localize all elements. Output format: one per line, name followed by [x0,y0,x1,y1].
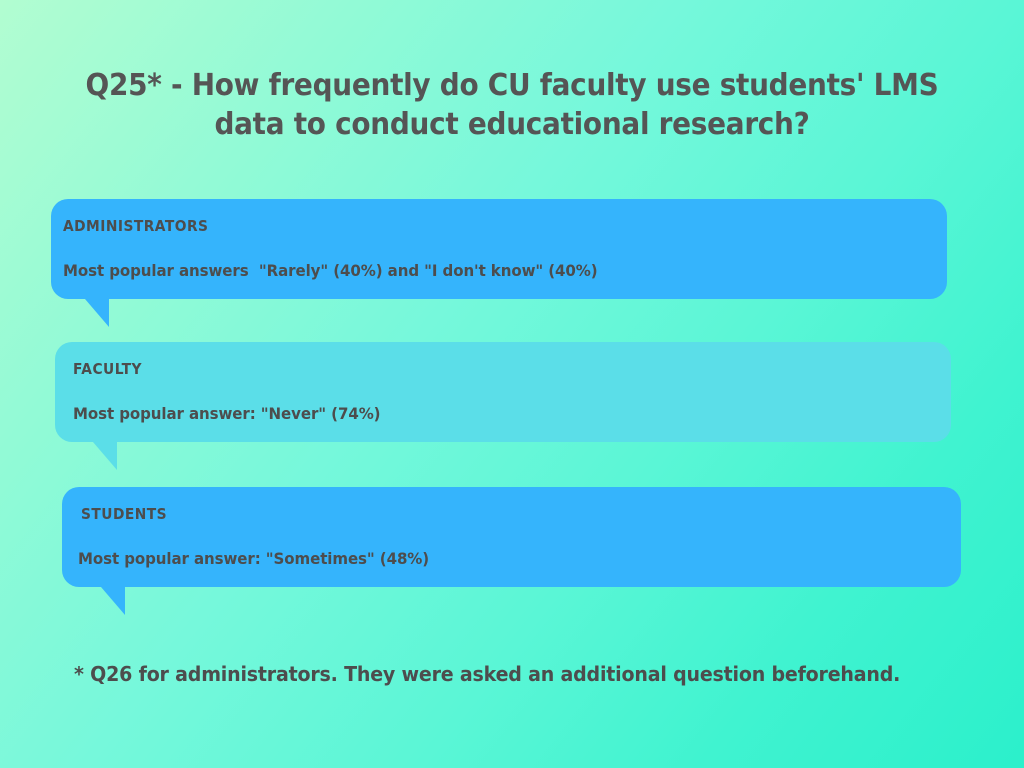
bubble-answer-faculty: Most popular answer: "Never" (74%) [73,404,898,423]
bubble-body-students: STUDENTS Most popular answer: "Sometimes… [62,487,961,587]
bubble-body-faculty: FACULTY Most popular answer: "Never" (74… [55,342,951,442]
speech-bubble-students: STUDENTS Most popular answer: "Sometimes… [62,487,961,587]
slide-canvas: Q25* - How frequently do CU faculty use … [0,0,1024,768]
bubble-answer-administrators: Most popular answers "Rarely" (40%) and … [63,261,894,280]
speech-bubble-administrators: ADMINISTRATORS Most popular answers "Rar… [51,199,947,299]
bubble-tail-administrators [85,299,109,327]
bubble-group-label-students: STUDENTS [81,505,891,523]
bubble-answer-students: Most popular answer: "Sometimes" (48%) [78,549,908,568]
bubble-tail-students [101,587,125,615]
bubble-tail-faculty [93,442,117,470]
bubble-group-label-administrators: ADMINISTRATORS [63,217,876,235]
speech-bubble-faculty: FACULTY Most popular answer: "Never" (74… [55,342,951,442]
bubble-group-label-faculty: FACULTY [73,360,881,378]
bubble-body-administrators: ADMINISTRATORS Most popular answers "Rar… [51,199,947,299]
footnote-text: * Q26 for administrators. They were aske… [74,662,900,686]
page-title: Q25* - How frequently do CU faculty use … [84,66,940,144]
